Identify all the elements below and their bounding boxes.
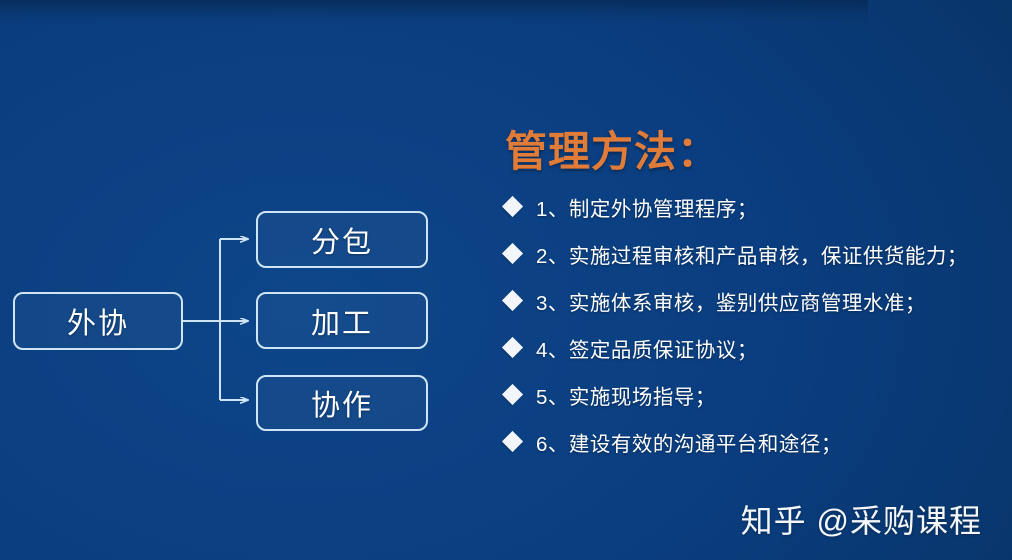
list-item-text: 5、实施现场指导；	[536, 380, 716, 410]
list-item: 6、建设有效的沟通平台和途径；	[505, 418, 1005, 465]
diamond-bullet-icon	[502, 431, 523, 452]
diamond-bullet-icon	[502, 243, 523, 264]
diamond-bullet-icon	[502, 337, 523, 358]
list-item: 2、实施过程审核和产品审核，保证供货能力；	[505, 230, 1005, 277]
list-item: 4、签定品质保证协议；	[505, 324, 1005, 371]
panel-title: 管理方法：	[505, 118, 720, 179]
list-item: 1、制定外协管理程序；	[505, 183, 1005, 230]
diamond-bullet-icon	[502, 196, 523, 217]
list-item: 5、实施现场指导；	[505, 371, 1005, 418]
diamond-bullet-icon	[502, 290, 523, 311]
list-item-text: 1、制定外协管理程序；	[536, 192, 758, 222]
diamond-bullet-icon	[502, 384, 523, 405]
bullet-list: 1、制定外协管理程序； 2、实施过程审核和产品审核，保证供货能力； 3、实施体系…	[505, 183, 1005, 465]
list-item-text: 6、建设有效的沟通平台和途径；	[536, 427, 842, 457]
slide-canvas: 外协 分包 加工 协作 管理方法： 1、制定外协管理程序； 2、实施过程审核和产…	[0, 0, 1012, 560]
list-item-text: 4、签定品质保证协议；	[536, 333, 758, 363]
list-item-text: 2、实施过程审核和产品审核，保证供货能力；	[536, 239, 968, 269]
watermark: 知乎 @采购课程	[741, 496, 982, 542]
list-item: 3、实施体系审核，鉴别供应商管理水准；	[505, 277, 1005, 324]
list-item-text: 3、实施体系审核，鉴别供应商管理水准；	[536, 286, 926, 316]
content-panel: 管理方法： 1、制定外协管理程序； 2、实施过程审核和产品审核，保证供货能力； …	[0, 0, 1012, 560]
